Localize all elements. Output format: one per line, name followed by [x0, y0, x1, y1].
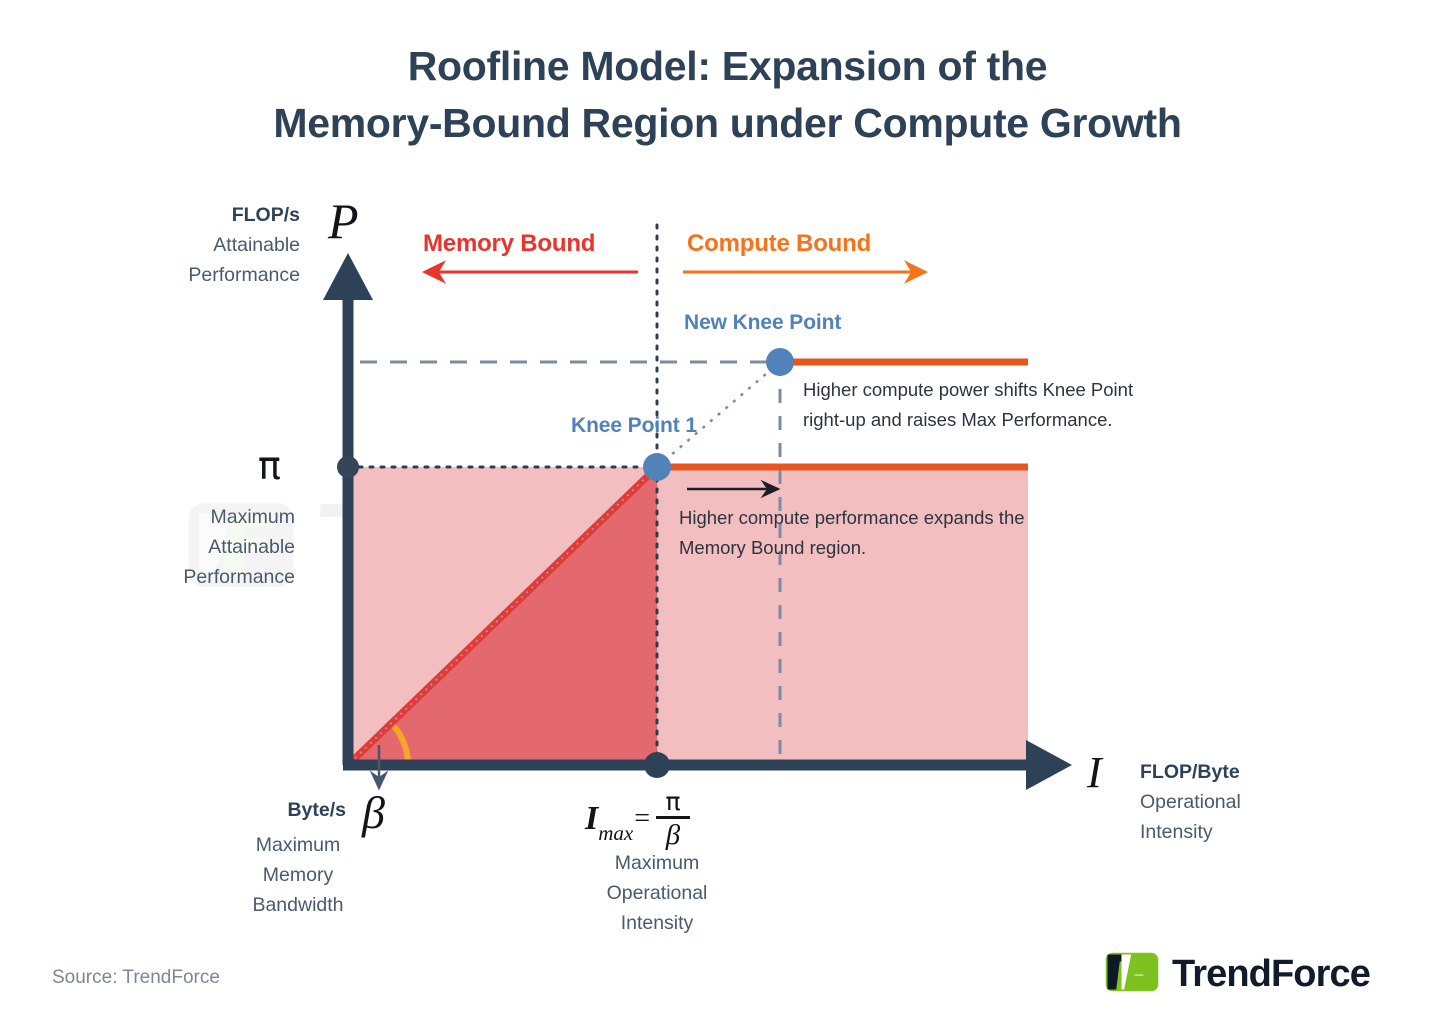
imax-equals: = — [633, 803, 653, 835]
beta-name-line-2: Memory — [210, 860, 386, 890]
beta-name-line-3: Bandwidth — [210, 890, 386, 920]
roofline-infographic: Roofline Model: Expansion of the Memory-… — [0, 0, 1455, 1031]
imax-name-line-2: Operational — [569, 878, 745, 908]
compute-bound-label: Compute Bound — [687, 230, 871, 258]
pi-name-line-3: Performance — [110, 562, 295, 592]
imax-formula: I max = π β — [585, 789, 690, 850]
beta-description: Maximum Memory Bandwidth — [210, 830, 386, 921]
x-axis-symbol: I — [1087, 747, 1102, 798]
x-axis-name-line-2: Intensity — [1140, 817, 1340, 847]
y-axis-arrow-icon — [323, 253, 373, 300]
new-knee-point-label: New Knee Point — [684, 311, 841, 335]
brand-name: TrendForce — [1172, 953, 1370, 996]
x-axis-arrow-icon — [1026, 740, 1072, 790]
imax-subscript: max — [598, 821, 633, 850]
x-axis-unit: FLOP/Byte — [1140, 757, 1340, 787]
pi-symbol: π — [258, 447, 281, 485]
lower-annotation: Higher compute performance expands the M… — [679, 503, 1029, 563]
y-axis-name-line-1: Attainable — [120, 230, 300, 260]
source-label: Source: TrendForce — [52, 967, 220, 989]
brand-logo: TrendForce — [1104, 944, 1370, 1005]
x-axis-name-line-1: Operational — [1140, 787, 1340, 817]
beta-unit: Byte/s — [287, 799, 346, 821]
y-axis-label-group: FLOP/s Attainable Performance — [120, 200, 300, 291]
imax-name-line-3: Intensity — [569, 908, 745, 938]
upper-annotation: Higher compute power shifts Knee Point r… — [803, 375, 1138, 435]
beta-name-line-1: Maximum — [210, 830, 386, 860]
pi-name-line-1: Maximum — [110, 502, 295, 532]
imax-fraction: π β — [656, 789, 690, 850]
y-axis-name-line-2: Performance — [120, 260, 300, 290]
x-axis-label-group: FLOP/Byte Operational Intensity — [1140, 757, 1340, 848]
imax-name-line-1: Maximum — [569, 848, 745, 878]
new-knee-point-dot — [766, 348, 794, 376]
imax-symbol: I — [585, 800, 598, 838]
pi-name-line-2: Attainable — [110, 532, 295, 562]
trendforce-mark-icon — [1104, 944, 1160, 1005]
pi-description: Maximum Attainable Performance — [110, 502, 295, 593]
imax-axis-dot — [644, 752, 670, 778]
imax-numerator: π — [666, 789, 681, 816]
knee-point-1-dot — [643, 453, 671, 481]
knee-point-1-label: Knee Point 1 — [571, 414, 697, 438]
imax-denominator: β — [666, 819, 680, 850]
memory-bound-label: Memory Bound — [423, 230, 595, 258]
beta-unit-label: Byte/s — [248, 795, 346, 825]
imax-description: Maximum Operational Intensity — [569, 848, 745, 939]
y-axis-symbol: P — [328, 192, 359, 250]
y-axis-unit: FLOP/s — [120, 200, 300, 230]
pi-axis-dot — [337, 456, 359, 478]
